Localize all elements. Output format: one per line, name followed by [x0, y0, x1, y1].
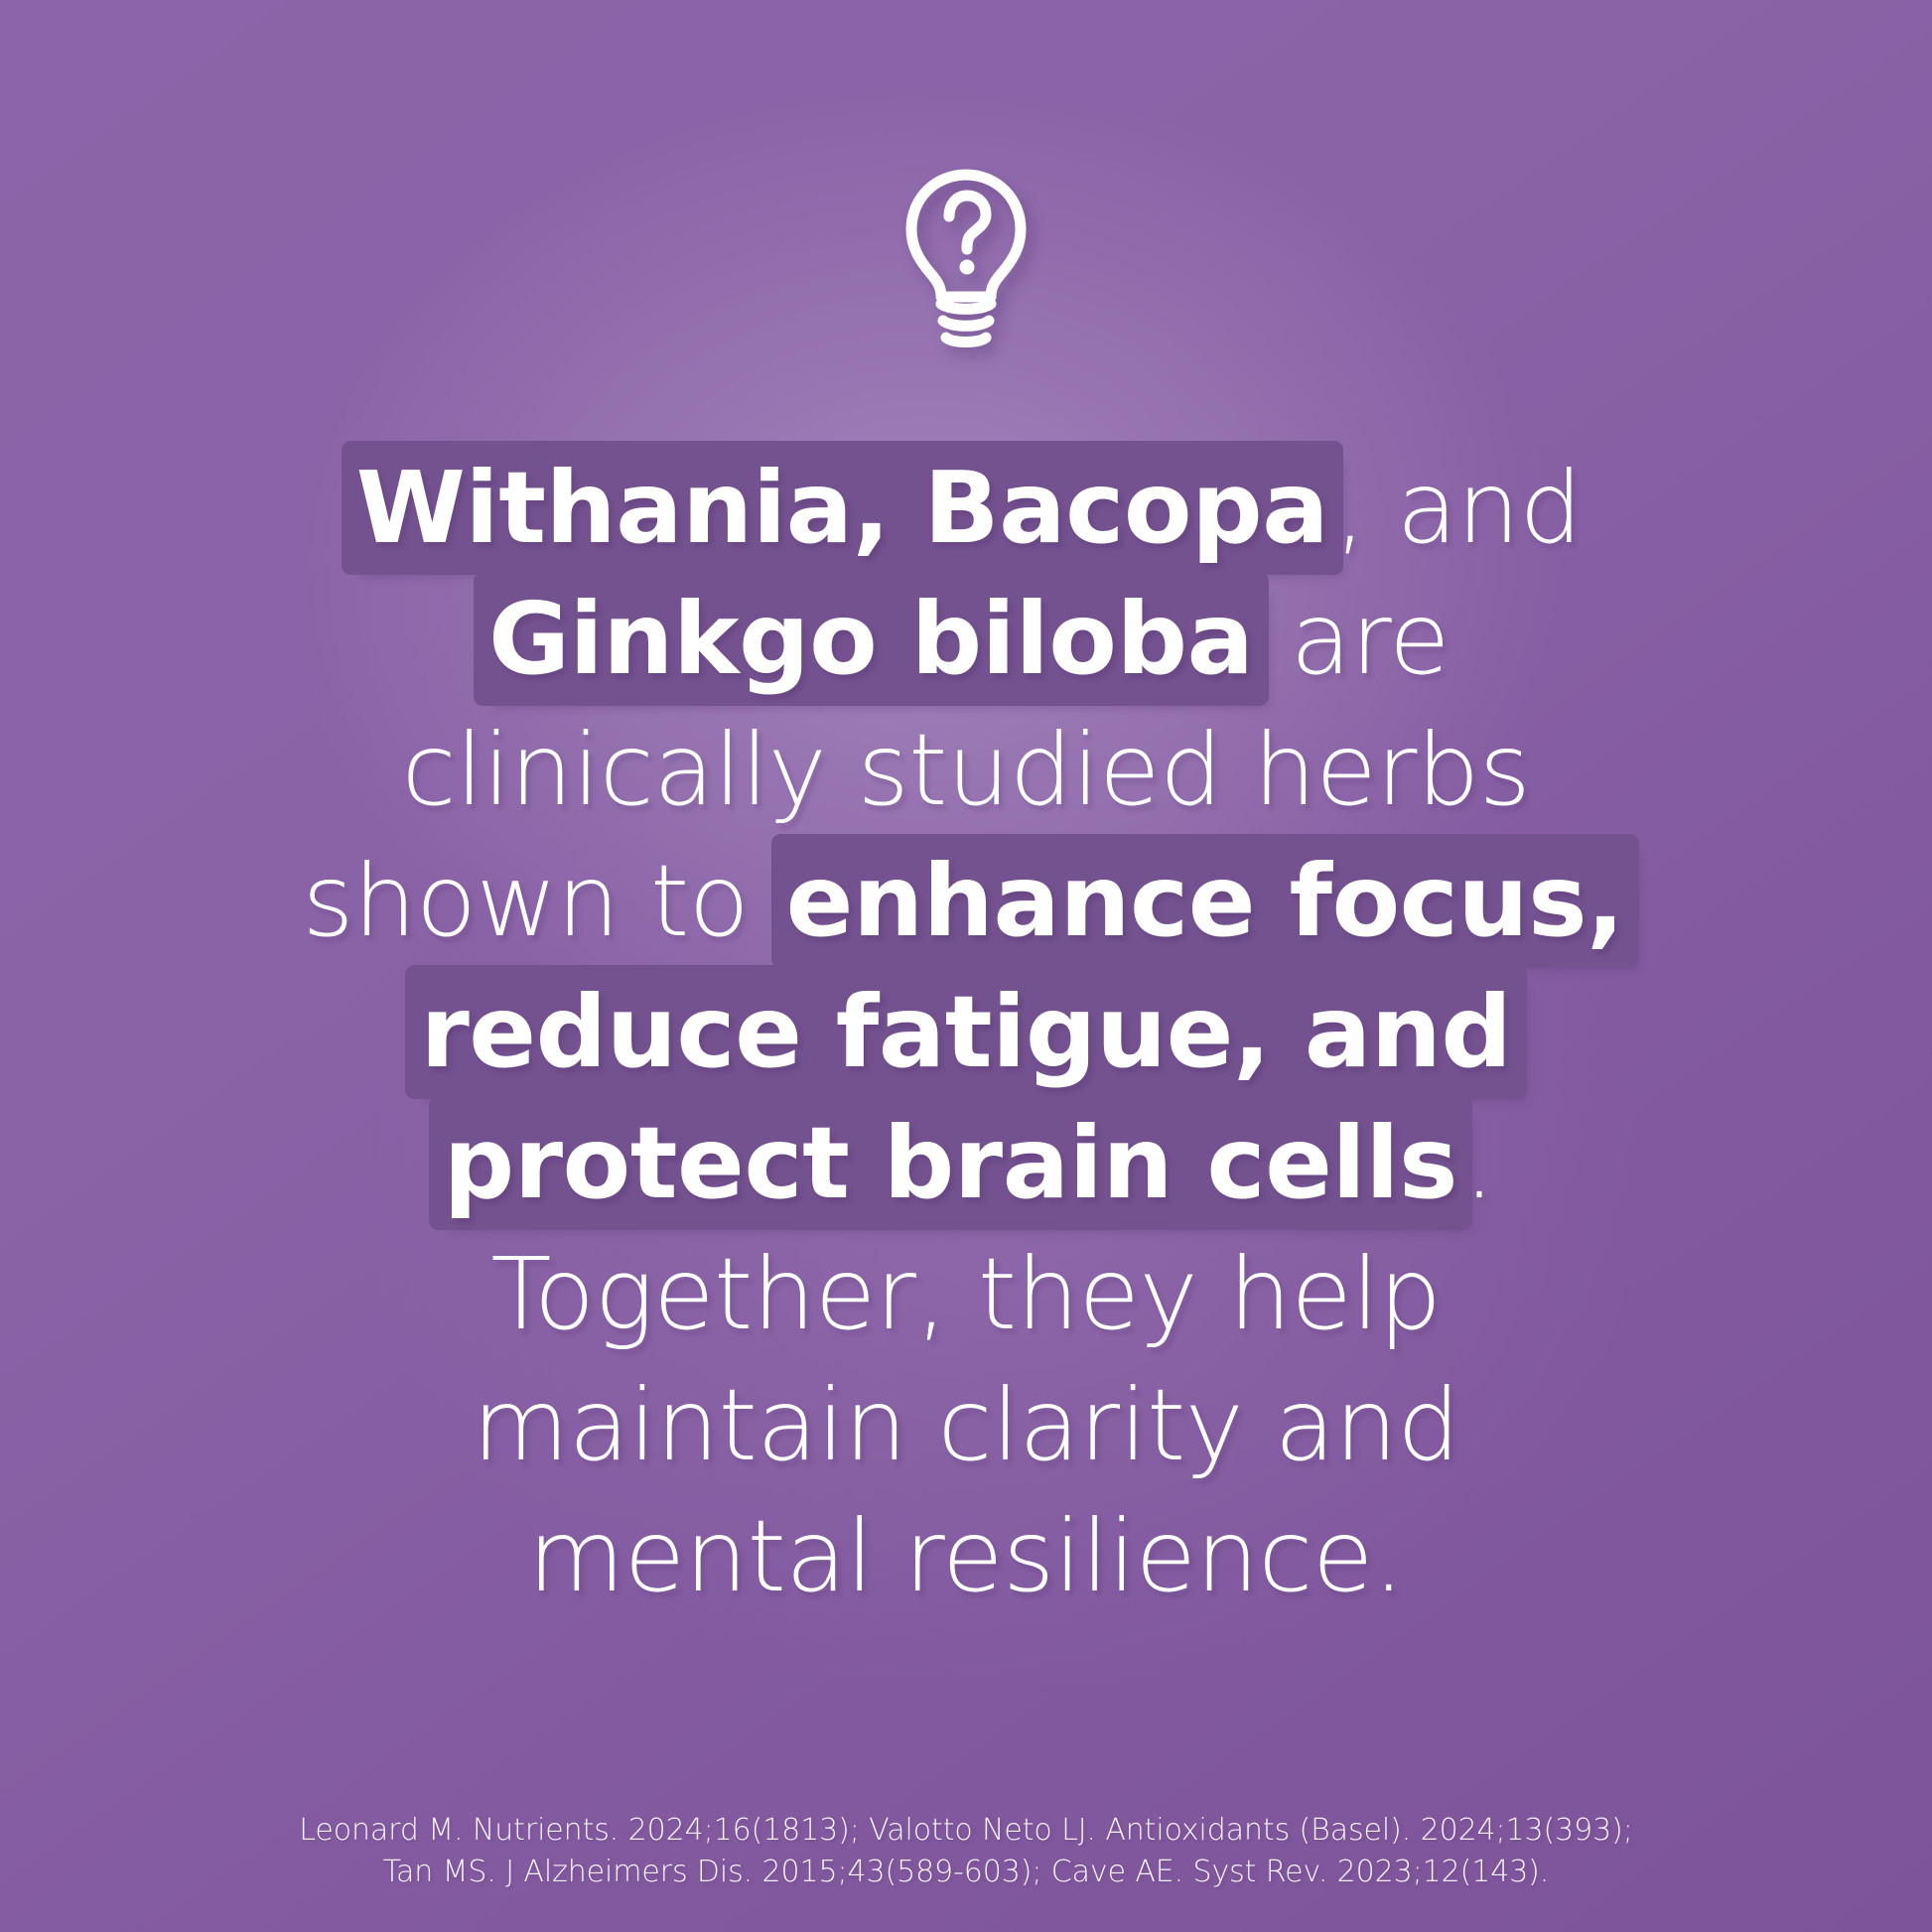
- body-copy: Withania, Bacopa, and Ginkgo biloba are …: [301, 443, 1631, 1622]
- citations: Leonard M. Nutrients. 2024;16(1813); Val…: [0, 1810, 1932, 1892]
- info-card: Withania, Bacopa, and Ginkgo biloba are …: [0, 0, 1932, 1932]
- lightbulb-question-icon: [892, 167, 1040, 347]
- citation-line-1: Leonard M. Nutrients. 2024;16(1813); Val…: [119, 1810, 1813, 1851]
- body-text-1: , and: [1334, 450, 1582, 566]
- citation-line-2: Tan MS. J Alzheimers Dis. 2015;43(589-60…: [119, 1852, 1813, 1892]
- highlight-phrase-2: Ginkgo biloba: [483, 581, 1260, 697]
- highlight-phrase-1: Withania, Bacopa: [350, 450, 1335, 566]
